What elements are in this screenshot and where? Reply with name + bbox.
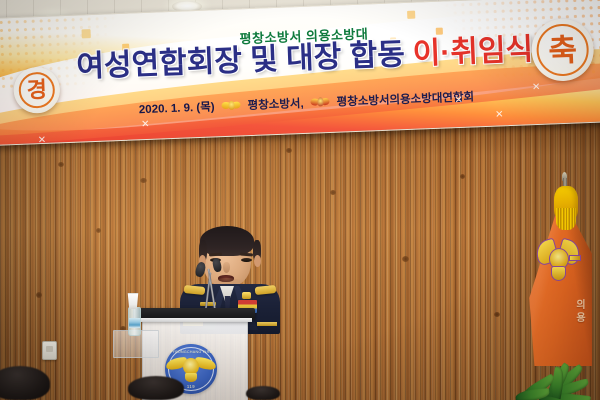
podium-emblem-top-text: PYEONGCHANG FIRE — [165, 350, 217, 354]
banner-square — [407, 11, 415, 19]
banner-title-accent: 이·취임식 — [412, 33, 534, 71]
hair — [200, 226, 254, 256]
volunteer-brigade-emblem-icon — [310, 96, 329, 109]
chest-badge — [242, 292, 251, 299]
fire-service-emblem-icon — [221, 99, 240, 112]
eye-right — [241, 258, 252, 262]
water-bottle — [128, 307, 141, 336]
audience-head — [0, 366, 50, 400]
badge-left-text: 경 — [26, 79, 47, 102]
flag-winged-emblem-icon — [538, 236, 578, 282]
banner-date: 2020. 1. 9. (목) — [139, 98, 215, 117]
sparkle-icon: ✕ — [454, 95, 463, 106]
sparkle-icon: ✕ — [532, 82, 541, 93]
audience-head — [246, 386, 280, 400]
nose — [223, 262, 230, 273]
ceremony-banner: 평창소방서 의용소방대 여성연합회장 및 대장 합동이·취임식 2020. 1.… — [0, 0, 600, 146]
ear-right — [254, 255, 261, 267]
sparkle-icon: ✕ — [495, 109, 504, 120]
potted-plant — [508, 346, 600, 400]
sparkle-icon: ✕ — [141, 119, 150, 130]
flag-tassel-strings — [556, 208, 576, 230]
photo-scene: 평창소방서 의용소방대 여성연합회장 및 대장 합동이·취임식 2020. 1.… — [0, 0, 600, 400]
light-switch-plate[interactable] — [42, 341, 57, 360]
bottle-label — [129, 318, 140, 328]
flag-vertical-text: 의 용 — [574, 300, 588, 325]
cuff-band-right — [257, 322, 277, 326]
audience-head — [128, 376, 184, 400]
badge-right-text: 축 — [548, 34, 578, 66]
podium-front-edge — [136, 318, 252, 322]
banner-host-1: 평창소방서, — [247, 95, 304, 113]
